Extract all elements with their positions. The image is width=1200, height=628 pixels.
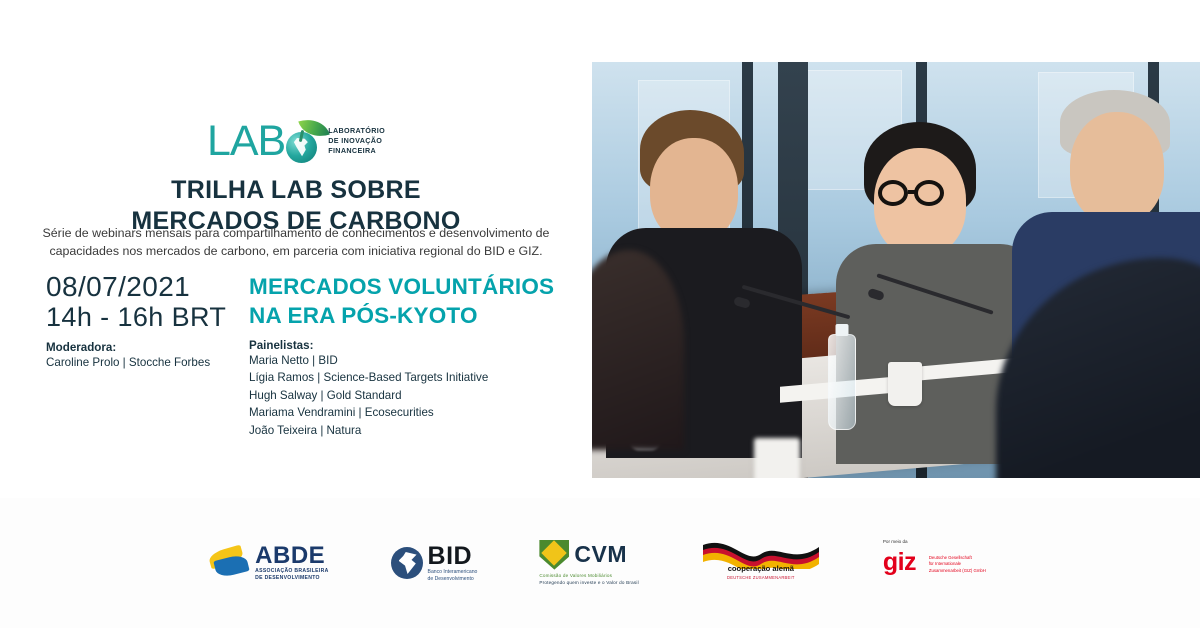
lab-logo: LAB Laboratório de Inovação Financeira (0, 118, 592, 164)
event-date: 08/07/2021 (46, 272, 251, 303)
logo-bid: BID Banco Interamericano de Desenvolvime… (391, 544, 478, 583)
lab-tagline-line-3: Financeira (328, 146, 385, 156)
giz-tagline: Deutsche Gesellschaft für Internationale… (929, 555, 991, 574)
cvm-tagline: Comissão de Valores Mobiliários Protegen… (539, 573, 638, 587)
event-date-block: 08/07/2021 14h - 16h BRT Moderadora: Car… (46, 272, 251, 372)
giz-prefix: Por meio da (883, 539, 908, 544)
logo-cvm: CVM Comissão de Valores Mobiliários Prot… (539, 540, 638, 587)
session-title-line-2: NA ERA PÓS-KYOTO (249, 302, 579, 331)
abde-tagline-line-2: de Desenvolvimento (255, 575, 328, 582)
logo-cooperacao-alema: cooperação alemã DEUTSCHE ZUSAMMENARBEIT (701, 537, 821, 589)
abde-text: ABDE Associação Brasileira de Desenvolvi… (255, 544, 328, 582)
page-title-line-1: TRILHA LAB SOBRE (0, 175, 592, 206)
panelists-label: Painelistas: (249, 339, 579, 352)
abde-tagline: Associação Brasileira de Desenvolvimento (255, 568, 328, 582)
conference-photo (592, 62, 1200, 478)
lab-logo-wordmark: LAB (207, 120, 285, 163)
page-subtitle: Série de webinars mensais para compartil… (16, 225, 576, 261)
lab-logo-tagline: Laboratório de Inovação Financeira (328, 126, 385, 157)
list-item: Mariama Vendramini | Ecosecurities (249, 404, 579, 422)
abde-wordmark: ABDE (255, 542, 325, 569)
moderator-label: Moderadora: (46, 341, 251, 354)
cvm-text: CVM (574, 543, 627, 567)
giz-tagline-line-3: Zusammenarbeit (GIZ) GmbH (929, 568, 991, 574)
bid-wordmark: BID (428, 542, 473, 570)
event-time: 14h - 16h BRT (46, 303, 251, 333)
photo-person-foreground-left (592, 250, 684, 450)
session-title: MERCADOS VOLUNTÁRIOS NA ERA PÓS-KYOTO (249, 273, 579, 331)
abde-tagline-line-1: Associação Brasileira (255, 568, 328, 575)
bid-tagline: Banco Interamericano de Desenvolvimento (428, 569, 478, 583)
session-title-line-1: MERCADOS VOLUNTÁRIOS (249, 273, 579, 302)
partner-logo-bar: ABDE Associação Brasileira de Desenvolvi… (0, 498, 1200, 628)
promo-card: LAB Laboratório de Inovação Financeira T… (0, 0, 1200, 498)
abde-mark-icon (209, 547, 249, 579)
cvm-tagline-line-2: Protegendo quem investe e o Valor do Bra… (539, 580, 638, 587)
cvm-mark-icon (539, 540, 569, 570)
cooperacao-alema-text: cooperação alemã DEUTSCHE ZUSAMMENARBEIT (727, 565, 795, 580)
moderator-name: Caroline Prolo | Stocche Forbes (46, 354, 251, 371)
panelists-list: Maria Netto | BID Lígia Ramos | Science-… (249, 352, 579, 440)
lab-tagline-line-2: de Inovação (328, 136, 385, 146)
page-subtitle-line-2: capacidades nos mercados de carbono, em … (16, 243, 576, 261)
bid-mark-icon (391, 547, 423, 579)
list-item: Lígia Ramos | Science-Based Targets Init… (249, 369, 579, 387)
bid-tagline-line-1: Banco Interamericano (428, 569, 478, 576)
list-item: João Teixeira | Natura (249, 422, 579, 440)
cooperacao-alema-wordmark: cooperação alemã (727, 565, 795, 573)
left-content-column: LAB Laboratório de Inovação Financeira T… (0, 0, 592, 498)
cvm-wordmark: CVM (574, 541, 627, 567)
list-item: Hugh Salway | Gold Standard (249, 387, 579, 405)
bid-tagline-line-2: de Desenvolvimento (428, 576, 478, 583)
cooperacao-alema-tagline: DEUTSCHE ZUSAMMENARBEIT (727, 575, 795, 580)
giz-wordmark: giz (883, 551, 916, 574)
globe-leaf-icon (282, 118, 324, 164)
lab-tagline-line-1: Laboratório (328, 126, 385, 136)
page-subtitle-line-1: Série de webinars mensais para compartil… (16, 225, 576, 243)
session-block: MERCADOS VOLUNTÁRIOS NA ERA PÓS-KYOTO Pa… (249, 273, 579, 440)
cvm-tagline-line-1: Comissão de Valores Mobiliários (539, 573, 638, 580)
list-item: Maria Netto | BID (249, 352, 579, 370)
bid-text: BID Banco Interamericano de Desenvolvime… (428, 544, 478, 583)
logo-abde: ABDE Associação Brasileira de Desenvolvi… (209, 544, 328, 582)
logo-giz: Por meio da giz Deutsche Gesellschaft fü… (883, 539, 991, 587)
